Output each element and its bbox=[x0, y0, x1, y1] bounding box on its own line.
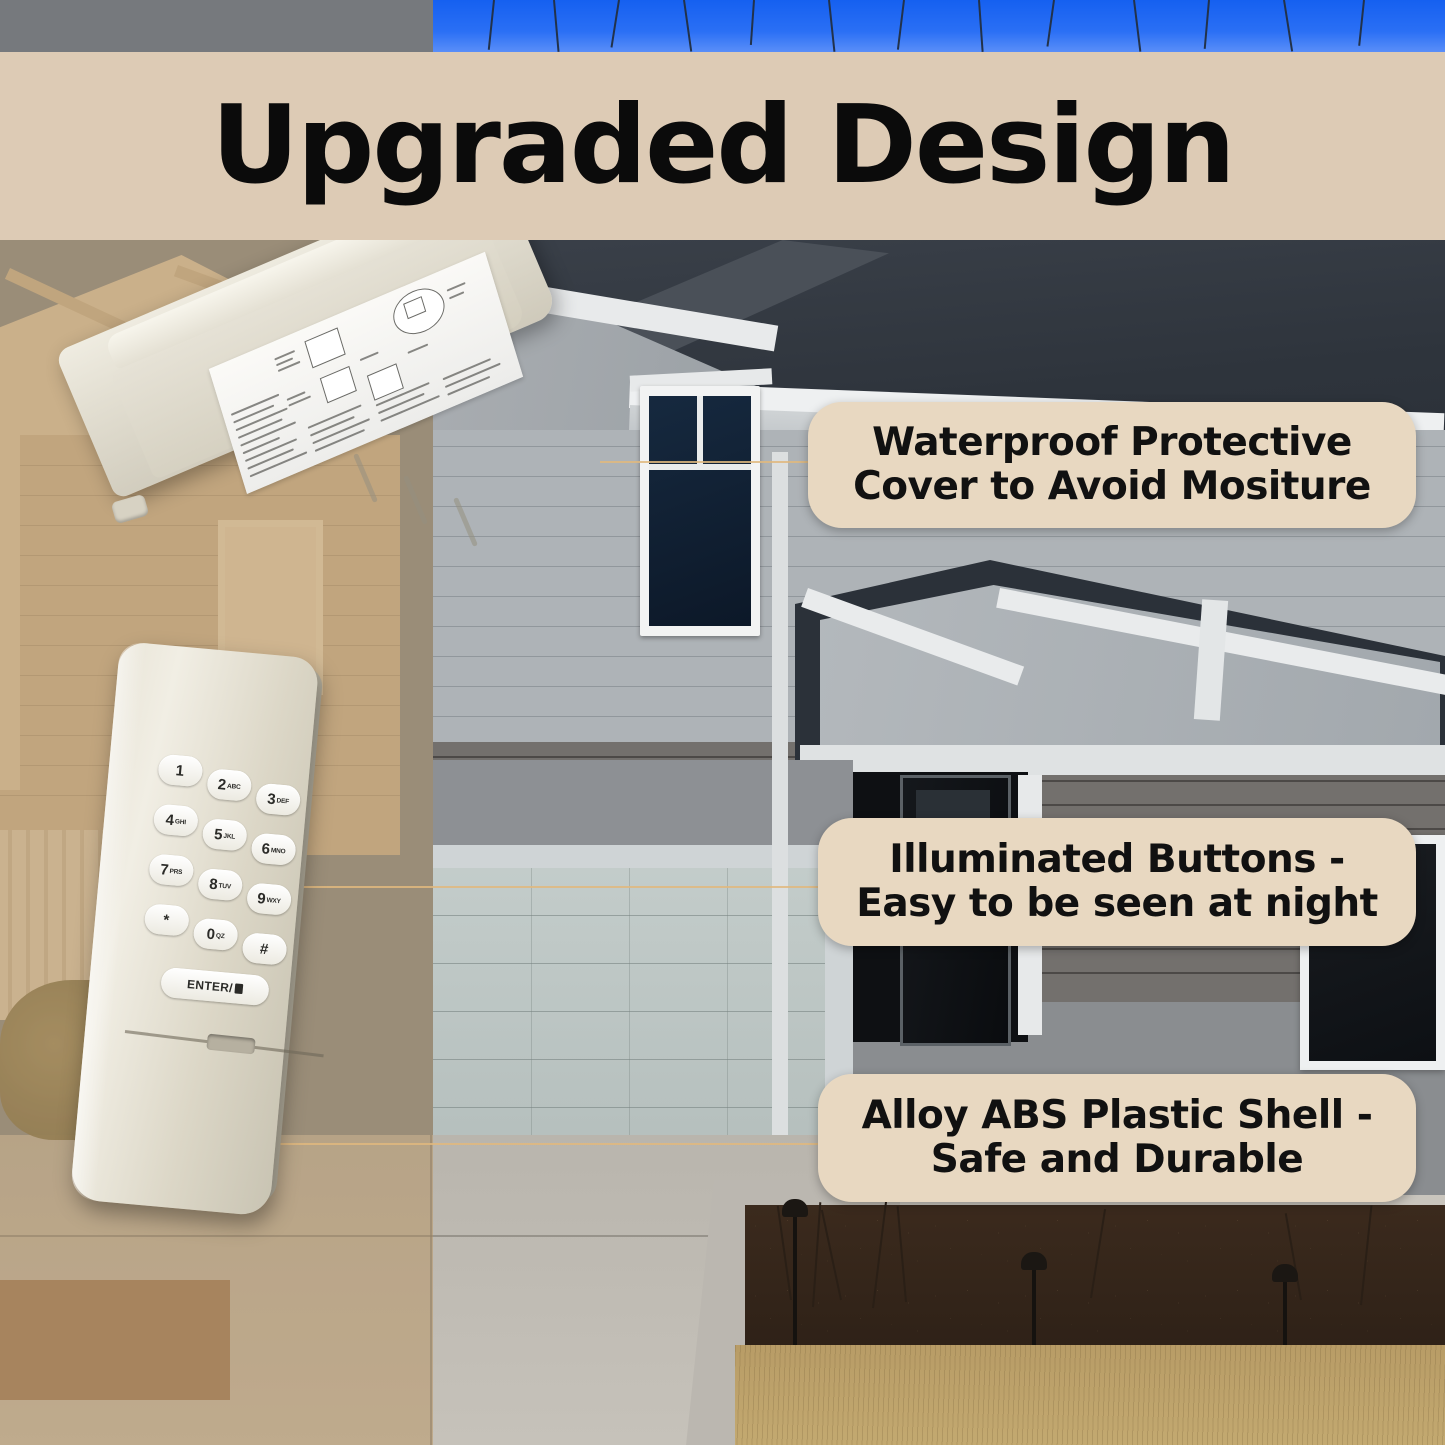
mulch-bed bbox=[745, 1205, 1445, 1355]
front-lawn bbox=[735, 1345, 1445, 1445]
key-0[interactable]: 0QZ bbox=[192, 918, 239, 952]
key-9[interactable]: 9WXY bbox=[246, 882, 293, 916]
cover-hinge-bottom bbox=[111, 494, 150, 525]
callout-line-1: Alloy ABS Plastic Shell - bbox=[862, 1094, 1373, 1138]
key-4[interactable]: 4GHI bbox=[153, 803, 200, 837]
sky-right-strip bbox=[433, 0, 1445, 52]
callout-line-2: Safe and Durable bbox=[931, 1138, 1303, 1182]
path-light bbox=[793, 1215, 797, 1355]
key-1[interactable]: 1 bbox=[157, 754, 204, 788]
callout-line-2: Cover to Avoid Mositure bbox=[853, 465, 1371, 509]
keypad-buttons[interactable]: 1 2ABC 3DEF 4GHI 5JKL 6MNO 7PRS 8TUV 9WX… bbox=[141, 754, 309, 977]
key-5[interactable]: 5JKL bbox=[201, 818, 248, 852]
callout-line-2: Easy to be seen at night bbox=[856, 882, 1378, 926]
key-star[interactable]: * bbox=[144, 903, 191, 937]
key-8[interactable]: 8TUV bbox=[197, 868, 244, 902]
key-hash[interactable]: # bbox=[241, 932, 288, 966]
garage-keypad-product: 1 2ABC 3DEF 4GHI 5JKL 6MNO 7PRS 8TUV 9WX… bbox=[95, 330, 715, 1230]
header-banner: Upgraded Design bbox=[0, 52, 1445, 240]
door-window bbox=[916, 790, 990, 820]
key-7[interactable]: 7PRS bbox=[148, 853, 195, 887]
page-title: Upgraded Design bbox=[211, 92, 1233, 200]
callout-abs-shell: Alloy ABS Plastic Shell - Safe and Durab… bbox=[818, 1074, 1416, 1202]
callout-waterproof-cover: Waterproof Protective Cover to Avoid Mos… bbox=[808, 402, 1416, 528]
callout-illuminated-buttons: Illuminated Buttons - Easy to be seen at… bbox=[818, 818, 1416, 946]
enter-glyph-icon bbox=[234, 983, 243, 994]
callout-line-1: Illuminated Buttons - bbox=[889, 838, 1345, 882]
downspout bbox=[772, 452, 788, 1212]
key-3[interactable]: 3DEF bbox=[255, 783, 302, 817]
product-feature-image: 1 2ABC 3DEF 4GHI 5JKL 6MNO 7PRS 8TUV 9WX… bbox=[0, 0, 1445, 1445]
callout-line-1: Waterproof Protective bbox=[872, 421, 1352, 465]
sky-left-strip bbox=[0, 0, 433, 52]
key-2[interactable]: 2ABC bbox=[206, 768, 253, 802]
porch-beam bbox=[800, 745, 1445, 775]
key-6[interactable]: 6MNO bbox=[250, 832, 297, 866]
